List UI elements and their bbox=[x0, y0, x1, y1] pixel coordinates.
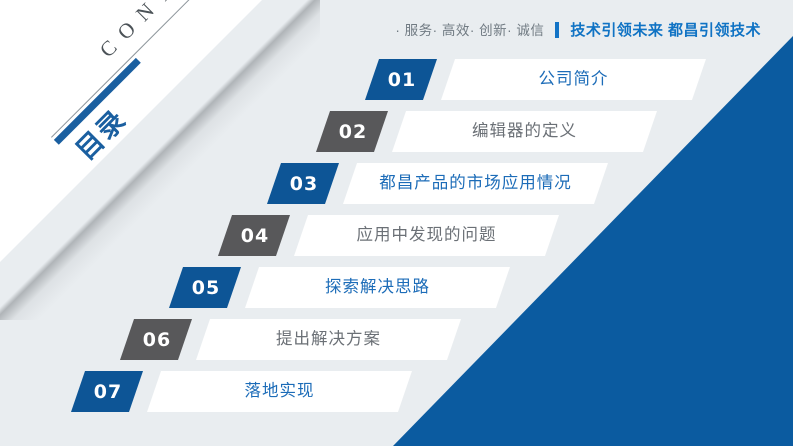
toc-label-07: 落地实现 bbox=[245, 383, 315, 400]
header-keywords: · 服务· 高效· 创新· 诚信 bbox=[395, 23, 544, 38]
toc-number-05: 05 bbox=[190, 277, 220, 299]
toc-number-04: 04 bbox=[239, 225, 269, 247]
toc-bar-05[interactable]: 探索解决思路 bbox=[245, 267, 510, 308]
toc-label-03: 都昌产品的市场应用情况 bbox=[379, 175, 572, 192]
toc-label-04: 应用中发现的问题 bbox=[357, 227, 497, 244]
toc-label-02: 编辑器的定义 bbox=[472, 123, 577, 140]
toc-number-07: 07 bbox=[92, 381, 122, 403]
toc-label-06: 提出解决方案 bbox=[276, 331, 381, 348]
toc-bar-02[interactable]: 编辑器的定义 bbox=[392, 111, 657, 152]
toc-number-02: 02 bbox=[337, 121, 367, 143]
toc-label-01: 公司简介 bbox=[539, 71, 609, 88]
toc-number-03: 03 bbox=[288, 173, 318, 195]
toc-bar-06[interactable]: 提出解决方案 bbox=[196, 319, 461, 360]
toc-bar-03[interactable]: 都昌产品的市场应用情况 bbox=[343, 163, 608, 204]
header-divider-icon bbox=[555, 22, 559, 38]
toc-number-01: 01 bbox=[386, 69, 416, 91]
toc-bar-04[interactable]: 应用中发现的问题 bbox=[294, 215, 559, 256]
toc-bar-07[interactable]: 落地实现 bbox=[147, 371, 412, 412]
slide-canvas: · 服务· 高效· 创新· 诚信 技术引领未来 都昌引领技术 CONTENT 目… bbox=[0, 0, 793, 446]
header-slogan: 技术引领未来 都昌引领技术 bbox=[570, 22, 761, 39]
toc-number-06: 06 bbox=[141, 329, 171, 351]
toc-label-05: 探索解决思路 bbox=[325, 279, 430, 296]
toc-bar-01[interactable]: 公司简介 bbox=[441, 59, 706, 100]
header-slogan-bar: · 服务· 高效· 创新· 诚信 技术引领未来 都昌引领技术 bbox=[0, 22, 761, 39]
